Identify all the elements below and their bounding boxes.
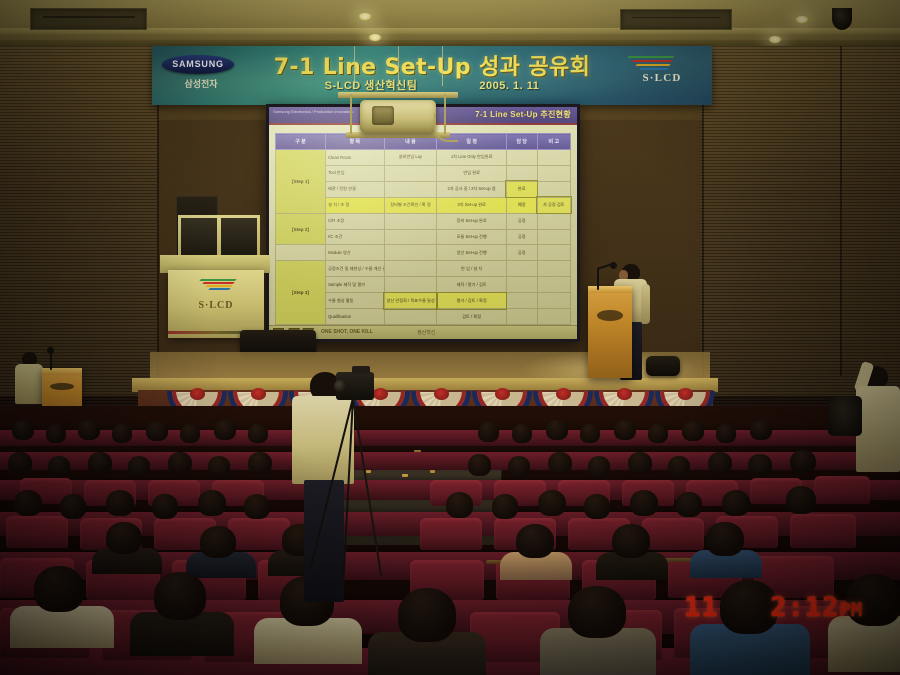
slide-cell: Qualification xyxy=(326,309,384,325)
timestamp-time: 2:12 xyxy=(770,592,839,623)
audience-head xyxy=(180,424,200,443)
slide-cell: 설비반입 Lay xyxy=(384,150,437,166)
slide-cell xyxy=(384,213,437,229)
slide-cell-highlight: 양산 안정화 / 목표수율 달성 xyxy=(384,293,437,309)
slide-cell xyxy=(537,245,570,261)
slide-cell xyxy=(537,165,570,181)
seat xyxy=(642,518,704,550)
side-podium-emblem xyxy=(50,383,74,390)
slide-cell: 공정조건 및 재현성 / 수율 개선 관리 xyxy=(326,261,384,277)
audience-head xyxy=(200,526,236,558)
table-row: [Step 1] Clean Room 설비반입 Lay 1차 Line Onl… xyxy=(276,150,571,166)
slide-col-header: 구 분 xyxy=(276,134,326,150)
slide-cell: 공정 xyxy=(506,245,537,261)
camera-lens-icon xyxy=(334,380,346,392)
slide-cell xyxy=(384,277,437,293)
slcd-wordmark: S·LCD xyxy=(620,72,704,84)
audience-head xyxy=(154,572,206,620)
slide-cell xyxy=(537,293,570,309)
slide-cell-highlight: 평가 / 검토 / 확정 xyxy=(437,293,507,309)
slide-cell-highlight: 장비별 조건확인 / 확 정 xyxy=(384,197,437,213)
slide-cell xyxy=(537,277,570,293)
slide-stage-cell: [Step 3] xyxy=(276,261,326,325)
audience-head xyxy=(750,420,772,440)
table-row: [Step 2] C/R 조정 장비 Set-up 완료 공정 xyxy=(276,213,571,229)
seat xyxy=(790,514,856,548)
table-row: [Step 3] 공정조건 및 재현성 / 수율 개선 관리 반 입 / 설 치 xyxy=(276,261,571,277)
slide-cell: 반입 완료 xyxy=(437,165,507,181)
audience-head xyxy=(248,424,268,443)
audience-head xyxy=(628,452,652,474)
audience-head xyxy=(516,524,554,558)
slide-cell xyxy=(506,165,537,181)
slide-cell: 2차 공사 중 / 2차 Set-up 중 xyxy=(437,181,507,197)
audience-head xyxy=(8,452,32,474)
audience-head xyxy=(168,452,192,474)
audience-head xyxy=(648,424,668,443)
audience-head xyxy=(722,490,750,516)
audience-head xyxy=(60,494,86,519)
audience-head xyxy=(34,566,84,612)
projector-lens-icon xyxy=(372,106,394,125)
ceiling-vent xyxy=(30,8,147,30)
side-podium-microphone-head xyxy=(47,347,54,354)
seat xyxy=(6,516,68,548)
audience-head xyxy=(790,450,816,473)
slide-cell xyxy=(506,150,537,166)
audience-head xyxy=(146,421,168,441)
audience-head xyxy=(106,490,134,516)
presenter-arm xyxy=(641,284,650,324)
audience-head xyxy=(244,494,270,519)
side-podium-top-surface xyxy=(42,368,82,375)
observer-legs xyxy=(304,480,344,602)
audience-head xyxy=(630,490,658,516)
audience-head xyxy=(446,492,473,518)
audience-shoulders xyxy=(10,606,114,648)
projector-cage-top xyxy=(338,92,458,98)
slide-cell xyxy=(384,261,437,277)
seat xyxy=(228,518,290,550)
slide-cell xyxy=(537,229,570,245)
audience-head xyxy=(198,490,226,516)
audience-head xyxy=(468,454,491,476)
audience-head xyxy=(706,522,744,556)
audience-head xyxy=(492,494,518,519)
audience-head xyxy=(612,524,650,558)
ceiling-vent xyxy=(620,9,732,30)
side-equipment xyxy=(828,396,862,436)
ceiling-downlight xyxy=(368,34,382,42)
slide-cell xyxy=(384,309,437,325)
projector-cable xyxy=(434,114,458,142)
audience-head xyxy=(548,452,572,474)
slide-cell xyxy=(384,245,437,261)
side-attendee xyxy=(856,362,900,472)
slcd-logo: S·LCD xyxy=(620,54,704,84)
podium-top-surface xyxy=(588,286,632,293)
camera-viewfinder-icon xyxy=(352,366,370,374)
slcd-chevron-mark-icon xyxy=(196,278,240,294)
slide-footer-note: 생산혁신 xyxy=(417,329,435,336)
slide-cell: Tool 반입 xyxy=(326,165,384,181)
slide-cell-highlight: 3차 Set-up 완료 xyxy=(437,197,507,213)
timestamp-date: 11 xyxy=(684,592,719,623)
observer-jacket xyxy=(292,396,354,484)
audience-head xyxy=(128,456,150,477)
slide-cell-highlight: 완료 xyxy=(506,181,537,197)
wall-seam xyxy=(840,46,842,376)
slide-stage-cell: [Step 1] xyxy=(276,150,326,214)
camera-timestamp: 11 2:12PM xyxy=(684,594,862,624)
audience-head xyxy=(708,452,732,474)
audience-head xyxy=(668,456,690,477)
slcd-cabinet: S·LCD xyxy=(168,270,264,338)
projector-mount-rod xyxy=(398,46,399,86)
slide-footer-label: ONE SHOT, ONE KILL xyxy=(321,329,373,335)
slide-cell xyxy=(276,245,326,261)
floor-debris xyxy=(402,474,408,477)
slide-cell xyxy=(506,261,537,277)
ceiling-projector xyxy=(338,84,458,142)
slide-cell: 수율 향상 활동 xyxy=(326,293,384,309)
slide-cell: 제작 / 평가 / 검토 xyxy=(437,277,507,293)
ceiling-downlight xyxy=(795,16,809,24)
floor-debris xyxy=(366,470,371,473)
slide-cell xyxy=(506,309,537,325)
moderator-torso xyxy=(15,364,43,404)
slide-cell xyxy=(384,229,437,245)
audience-head xyxy=(46,424,66,443)
security-camera-icon xyxy=(832,8,852,30)
audience-head xyxy=(214,420,236,440)
slide-table-body: [Step 1] Clean Room 설비반입 Lay 1차 Line Onl… xyxy=(276,150,571,325)
audience-head xyxy=(478,422,499,442)
slide-cell xyxy=(506,277,537,293)
audience-head xyxy=(78,420,100,440)
slide-cell xyxy=(537,309,570,325)
audience-head xyxy=(106,522,142,554)
slide-cell: Module 양산 xyxy=(326,245,384,261)
projector-mount-rod xyxy=(442,46,443,86)
side-attendee-torso xyxy=(856,386,900,472)
slide-cell-highlight: 설 치 / 조 정 xyxy=(326,197,384,213)
slide-cell: Clean Room xyxy=(326,150,384,166)
audience-head xyxy=(14,490,42,516)
projector-cage-post xyxy=(350,94,352,134)
slide-header: 7-1 Line Set-Up 추진현황 xyxy=(475,109,571,120)
slide-stage-cell: [Step 2] xyxy=(276,213,326,245)
podium-emblem xyxy=(597,310,623,321)
slide-cell xyxy=(537,213,570,229)
seat xyxy=(420,518,482,550)
audience-head xyxy=(538,490,566,516)
slide-cell: 반 입 / 설 치 xyxy=(437,261,507,277)
audience-head xyxy=(748,454,772,476)
slide-cell: 1차 Line Only 반입완료 xyxy=(437,150,507,166)
audience-head xyxy=(568,586,626,638)
audience-head xyxy=(398,588,456,642)
timestamp-ampm: PM xyxy=(839,599,862,621)
audience-head xyxy=(88,452,112,474)
slide-cell: 장비 Set-up 완료 xyxy=(437,213,507,229)
audience-head xyxy=(152,494,178,519)
slide-cell xyxy=(537,181,570,197)
audience-head xyxy=(248,452,272,474)
podium-microphone-stem xyxy=(597,268,599,290)
audience-head xyxy=(716,424,736,443)
audience-head xyxy=(614,420,636,440)
slide-cell: I/C 조건 xyxy=(326,229,384,245)
ceiling-downlight xyxy=(768,36,782,44)
slcd-cabinet-wordmark: S·LCD xyxy=(168,300,264,311)
audience-head xyxy=(112,424,132,443)
slide-cell: 양산 Set-up 진행 xyxy=(437,245,507,261)
table-row: Module 양산 양산 Set-up 진행 공정 xyxy=(276,245,571,261)
ceiling-downlight xyxy=(358,13,372,21)
audience-head xyxy=(12,420,34,440)
slide-col-header: 비 고 xyxy=(537,134,570,150)
audience-head xyxy=(48,456,70,477)
slide-cell: 배관 / 전원 연결 xyxy=(326,181,384,197)
slide-cell-highlight: 차 공정 검토 xyxy=(537,197,570,213)
audience-head xyxy=(546,420,568,440)
main-podium xyxy=(588,286,632,378)
banner-subtitle-date: 2005. 1. 11 xyxy=(479,80,539,92)
slide-col-header: 담 당 xyxy=(506,134,537,150)
stage-bag xyxy=(646,356,680,376)
floor-debris xyxy=(430,470,435,473)
audience-head xyxy=(580,424,600,443)
slide-cell-highlight: 예정 xyxy=(506,197,537,213)
slide-cell: 모듈 Set-up 진행 xyxy=(437,229,507,245)
slide-cell: 공정 xyxy=(506,213,537,229)
projector-mount-rod xyxy=(354,46,355,86)
podium-microphone-head xyxy=(610,262,617,269)
slide-table: 구 분 항 목 내 용 일 정 담 당 비 고 [Step 1] Clean R… xyxy=(275,133,571,325)
slide-cell xyxy=(506,293,537,309)
slcd-chevron-mark-icon xyxy=(620,54,704,71)
slide-cell xyxy=(384,181,437,197)
slide-cell xyxy=(537,150,570,166)
seat xyxy=(814,476,870,504)
audience-head xyxy=(786,486,816,514)
audience-head xyxy=(584,494,610,519)
audience-head xyxy=(682,421,704,441)
slide-cell: C/R 조정 xyxy=(326,213,384,229)
side-podium-microphone xyxy=(50,352,52,370)
slide-cell xyxy=(384,165,437,181)
audience-head xyxy=(512,424,532,443)
slide-cell: 검토 / 확정 xyxy=(437,309,507,325)
audience-head xyxy=(676,492,702,517)
slide-cell xyxy=(537,261,570,277)
audience-head xyxy=(208,456,230,477)
auditorium-photo: SAMSUNG 삼성전자 7-1 Line Set-Up 성과 공유회 S-LC… xyxy=(0,0,900,675)
audience-head xyxy=(588,456,610,477)
audience-head xyxy=(508,456,530,477)
slide-cell: Sample 제작 및 평가 xyxy=(326,277,384,293)
slide-cell: 공정 xyxy=(506,229,537,245)
